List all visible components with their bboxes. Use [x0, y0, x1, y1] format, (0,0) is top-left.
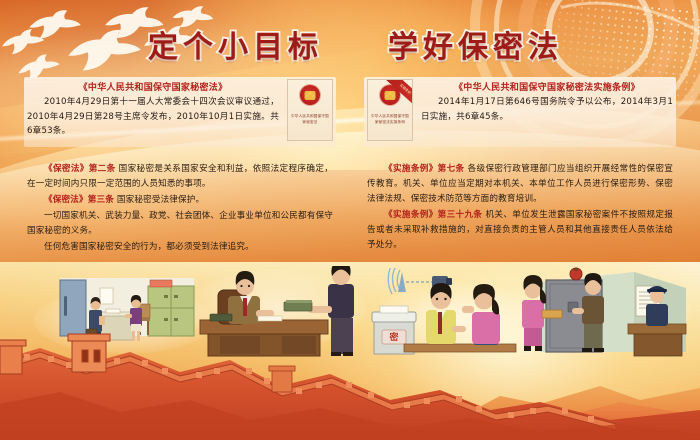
law-body-right: 2014年1月17日第646号国务院令予以公布，2014年3月1日实施，共6章4…: [421, 95, 673, 124]
law-summary-left: 《中华人民共和国保守国家秘密法》 2010年4月29日第十一届人大常委会十四次会…: [27, 79, 333, 141]
article-item: 《保密法》第二条 国家秘密是关系国家安全和利益，依照法定程序确定，在一定时间内只…: [27, 162, 333, 192]
law-title-right: 《中华人民共和国保守国家秘密法实施条例》: [421, 81, 673, 95]
article-item: 《保密法》第三条 国家秘密受法律保护。: [27, 193, 333, 208]
document-folder-icon: [542, 310, 562, 318]
watchtower: [68, 334, 110, 372]
article-label: 《实施条例》第三十九条: [384, 210, 482, 220]
article-item: 一切国家机关、武装力量、政党、社会团体、企业事业单位和公民都有保守国家秘密的义务…: [27, 209, 333, 239]
great-wall-illustration: [0, 330, 700, 440]
articles-right: 《实施条例》第七条 各级保密行政管理部门应当组织开展经常性的保密宣传教育。机关、…: [367, 162, 673, 254]
national-emblem-icon: [300, 85, 320, 105]
article-text: 国家秘密受法律保护。: [117, 195, 204, 205]
signal-waves-icon: [388, 268, 400, 294]
law-summary-right-text: 《中华人民共和国保守国家秘密法实施条例》 2014年1月17日第646号国务院令…: [421, 79, 673, 124]
raised-hand-icon: [462, 306, 474, 313]
article-label: 《保密法》第三条: [44, 195, 114, 205]
law-body-left: 2010年4月29日第十一届人大常委会十四次会议审议通过，2010年4月29日第…: [27, 95, 279, 139]
article-text: 任何危害国家秘密安全的行为，都必须受到法律追究。: [44, 242, 254, 252]
title-row: 定个小目标 学好保密法: [0, 22, 700, 64]
book-cover-title-right: 中华人民共和国保守国家秘密法实施条例: [370, 113, 410, 125]
book-cover-baomifa: 中华人民共和国保守国家秘密法: [287, 79, 333, 141]
article-item: 《实施条例》第三十九条 机关、单位发生泄露国家秘密案件不按照规定报告或者未采取补…: [367, 208, 673, 253]
article-item: 《实施条例》第七条 各级保密行政管理部门应当组织开展经常性的保密宣传教育。机关、…: [367, 162, 673, 207]
book-cover-shitiaoli: 实施条例 中华人民共和国保守国家秘密法实施条例: [367, 79, 413, 141]
illustration-scene: 这里是涉密场所，请您登记后再进入。: [0, 262, 700, 440]
poster-root: 定个小目标 学好保密法 《中华人民共和国保守国家秘密法》 2010年4月29日第…: [0, 0, 700, 440]
articles-left: 《保密法》第二条 国家秘密是关系国家安全和利益，依照法定程序确定，在一定时间内只…: [27, 162, 333, 256]
law-summary-left-text: 《中华人民共和国保守国家秘密法》 2010年4月29日第十一届人大常委会十四次会…: [27, 79, 279, 139]
law-title-left: 《中华人民共和国保守国家秘密法》: [27, 81, 279, 95]
watchtower: [0, 340, 26, 374]
law-summary-right: 实施条例 中华人民共和国保守国家秘密法实施条例 《中华人民共和国保守国家秘密法实…: [367, 79, 673, 141]
figure-guard: [646, 286, 668, 326]
poster-title-right: 学好保密法: [388, 22, 563, 66]
national-emblem-icon: [380, 85, 400, 105]
article-text: 一切国家机关、武装力量、政党、社会团体、企业事业单位和公民都有保守国家秘密的义务…: [27, 211, 333, 236]
article-item: 任何危害国家秘密安全的行为，都必须受到法律追究。: [27, 240, 333, 255]
book-cover-title-left: 中华人民共和国保守国家秘密法: [290, 113, 330, 125]
poster-title-left: 定个小目标: [148, 22, 323, 66]
article-label: 《保密法》第二条: [44, 164, 116, 174]
watchtower: [269, 366, 295, 392]
article-label: 《实施条例》第七条: [384, 164, 464, 174]
